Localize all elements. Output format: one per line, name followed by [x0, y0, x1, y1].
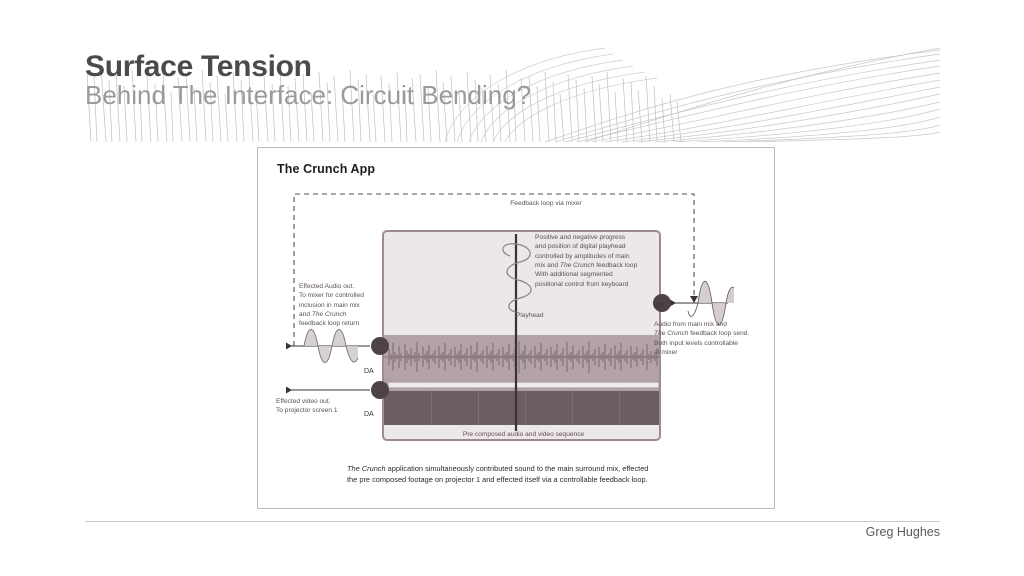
text-span: feedback loop [594, 262, 637, 269]
video-segment-divider [572, 391, 573, 425]
video-segment-divider [619, 391, 620, 425]
diagram-caption: The Crunch application simultaneously co… [347, 463, 697, 486]
diagram-panel: The Crunch App [257, 147, 775, 509]
text-line: and The Crunch [299, 310, 389, 319]
text-line: Effected video out. [276, 397, 386, 406]
video-segment-divider [431, 391, 432, 425]
text-line: The Crunch feedback loop send. [654, 329, 766, 338]
text-line: at mixer [654, 348, 766, 357]
text-line: positional control from keyboard [535, 280, 657, 289]
emphasis-the-crunch: The Crunch [347, 464, 386, 473]
text-line: Positive and negative progress [535, 233, 657, 242]
emphasis-the-crunch: The Crunch [560, 262, 594, 269]
page-title: Surface Tension [85, 52, 312, 82]
audio-waveform [384, 335, 661, 379]
emphasis-the-crunch: The Crunch [312, 311, 346, 318]
text-line: Audio from main mix and [654, 320, 766, 329]
text-line: inclusion in main mix [299, 301, 389, 310]
text-line: mix and The Crunch feedback loop [535, 261, 657, 270]
sequence-label: Pre composed audio and video sequence [384, 431, 661, 438]
video-segment-divider [525, 391, 526, 425]
text-line: controlled by amplitudes of main [535, 252, 657, 261]
text-line: To mixer for controlled [299, 291, 389, 300]
text-line: With additional segmented [535, 270, 657, 279]
caption-line: The Crunch application simultaneously co… [347, 463, 697, 474]
ad-label: AD [654, 303, 664, 310]
text-span: feedback loop send. [688, 330, 749, 337]
track-scroll-thumb[interactable] [388, 382, 659, 388]
playhead-label: Playhead [516, 312, 544, 319]
slide-header: Surface Tension Behind The Interface: Ci… [0, 0, 1024, 145]
audio-waveform-track[interactable] [384, 335, 661, 379]
emphasis-the-crunch: The Crunch [654, 330, 688, 337]
page-subtitle: Behind The Interface: Circuit Bending? [85, 82, 531, 108]
effected-video-out-text: Effected video out. To projector screen … [276, 397, 386, 416]
playhead-description-text: Positive and negative progress and posit… [535, 233, 657, 289]
text-line: feedback loop return [299, 319, 389, 328]
video-segment-divider [478, 391, 479, 425]
caption-line: the pre composed footage on projector 1 … [347, 474, 697, 485]
footer-author: Greg Hughes [866, 525, 940, 539]
feedback-loop-label: Feedback loop via mixer [510, 200, 581, 207]
text-line: and position of digital playhead [535, 242, 657, 251]
effected-audio-out-text: Effected Audio out. To mixer for control… [299, 282, 389, 329]
da-audio-connector[interactable] [371, 337, 389, 355]
da-audio-label: DA [364, 368, 374, 375]
footer-divider [85, 521, 940, 522]
text-line: Both input levels controllable [654, 339, 766, 348]
text-span: and [299, 311, 312, 318]
track-scroll-strip[interactable] [384, 379, 661, 391]
text-line: Effected Audio out. [299, 282, 389, 291]
diagram-canvas: Pre composed audio and video sequence Fe… [258, 148, 776, 510]
text-span: mix and [535, 262, 560, 269]
text-span: application simultaneously contributed s… [386, 464, 649, 473]
text-line: To projector screen 1 [276, 406, 386, 415]
video-track[interactable] [384, 391, 661, 425]
audio-input-text: Audio from main mix and The Crunch feedb… [654, 320, 766, 357]
